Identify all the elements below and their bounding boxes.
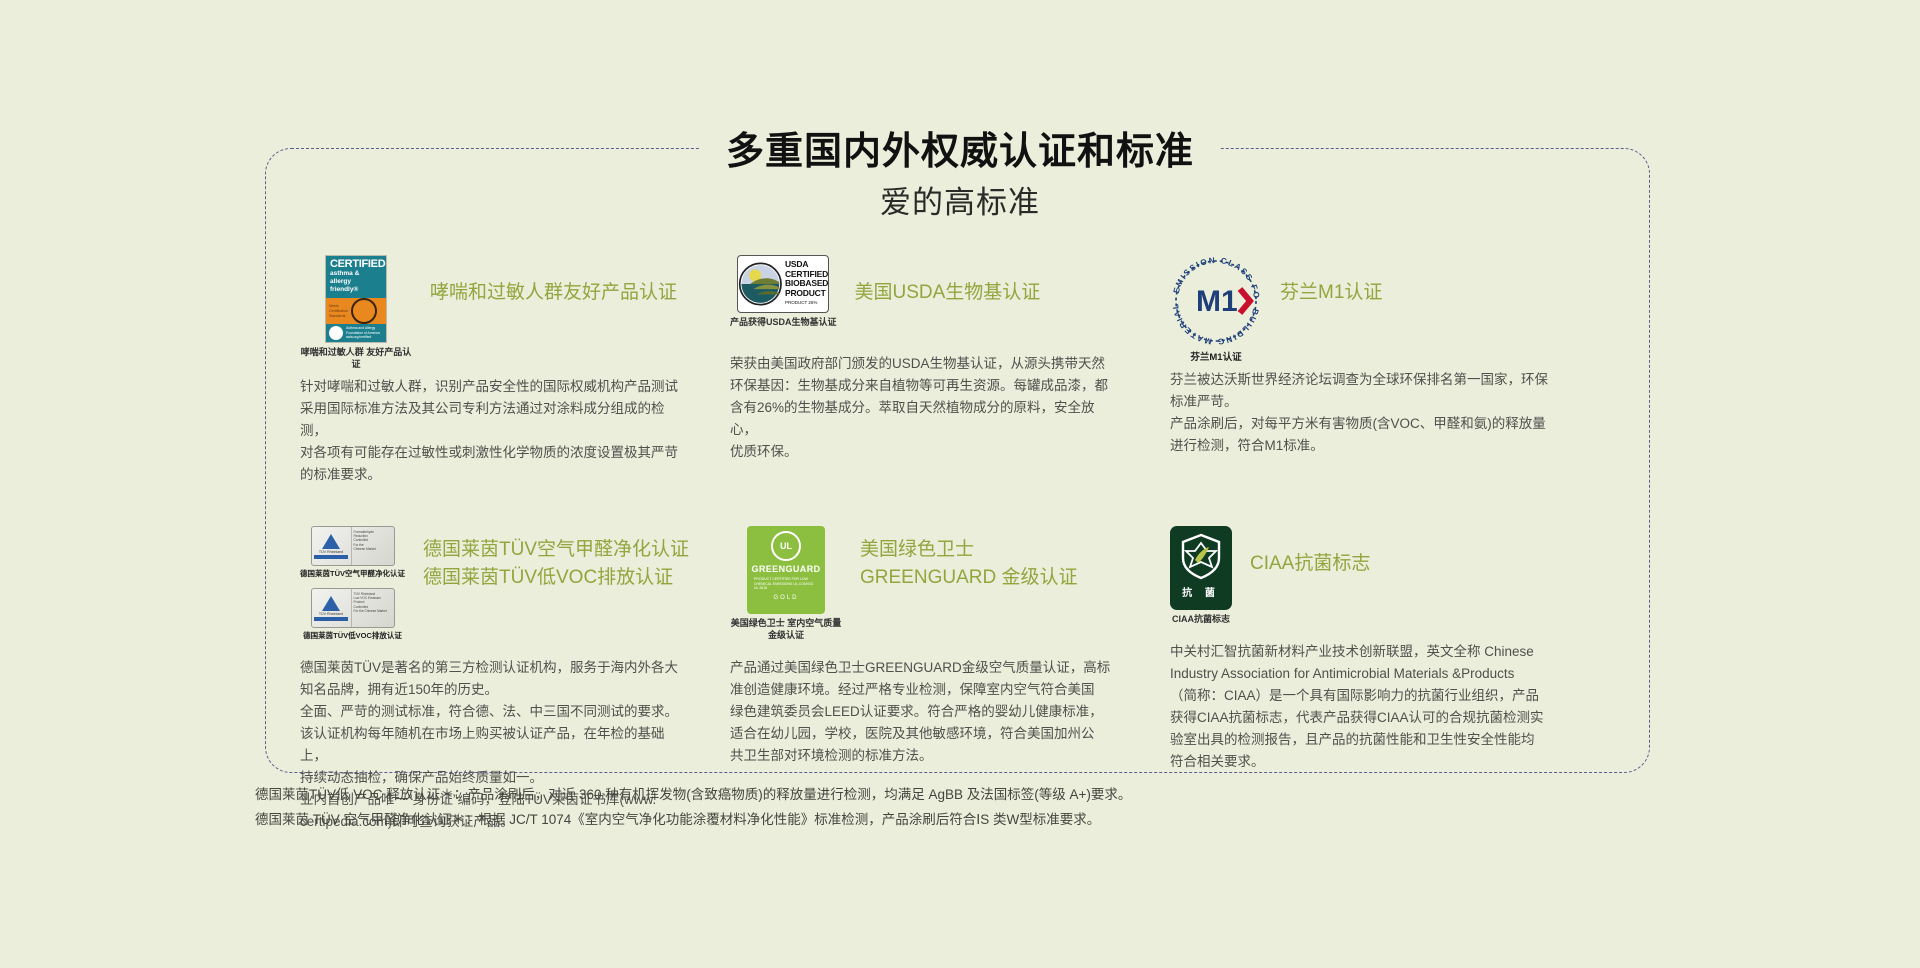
certification-title: 美国绿色卫士 GREENGUARD 金级认证	[842, 526, 1077, 592]
certification-body: 中关村汇智抗菌新材料产业技术创新联盟，英文全称 Chinese Industry…	[1170, 641, 1578, 773]
badge-caption: 美国绿色卫士 室内空气质量金级认证	[730, 617, 842, 641]
certification-title: 芬兰M1认证	[1262, 255, 1382, 307]
badge-wrap: 抗 菌 CIAA抗菌标志	[1170, 526, 1232, 625]
badge-wrap: USDA CERTIFIED BIOBASED PRODUCT PRODUCT …	[730, 255, 837, 328]
tuv-detail-text: FormaldehydeReductionControlledFor theCh…	[352, 527, 394, 565]
badge-caption: 产品获得USDA生物基认证	[730, 316, 837, 328]
aafa-seal-graphic	[351, 298, 377, 324]
certification-body: 针对哮喘和过敏人群，识别产品安全性的国际权威机构产品测试 采用国际标准方法及其公…	[300, 376, 708, 486]
badge-wrap: EMISSION CLASS FOR BUILDING MATERIAL · R…	[1170, 255, 1262, 363]
badge-wrap: UL GREENGUARD PRODUCT CERTIFIED FOR LOW …	[730, 526, 842, 641]
tuv-triangle-icon	[322, 596, 340, 611]
certification-header: UL GREENGUARD PRODUCT CERTIFIED FOR LOW …	[730, 526, 1148, 641]
badge-caption-voc: 德国莱茵TÜV低VOC排放认证	[303, 630, 402, 641]
aafa-badge-line-asthma: asthma & allergy	[330, 270, 382, 286]
greenguard-fineprint: PRODUCT CERTIFIED FOR LOW CHEMICAL EMISS…	[754, 577, 818, 591]
certification-header: EMISSION CLASS FOR BUILDING MATERIAL · R…	[1170, 255, 1578, 363]
certification-header: TÜV Rheinland FormaldehydeReductionContr…	[300, 526, 708, 641]
certification-header: 抗 菌 CIAA抗菌标志 CIAA抗菌标志	[1170, 526, 1578, 625]
ul-mark-icon: UL	[771, 531, 801, 561]
aafa-certified-badge-icon: CERTIFIED asthma & allergy friendly® Mee…	[325, 255, 387, 343]
tuv-mark: TÜV Rheinland	[312, 527, 352, 565]
tuv-brand-text: TÜV Rheinland	[319, 550, 343, 554]
certification-card-finland-m1: EMISSION CLASS FOR BUILDING MATERIAL · R…	[1170, 255, 1600, 486]
certification-title: 德国莱茵TÜV空气甲醛净化认证 德国莱茵TÜV低VOC排放认证	[405, 526, 689, 592]
greenguard-gold-badge-icon: UL GREENGUARD PRODUCT CERTIFIED FOR LOW …	[747, 526, 825, 614]
tuv-rheinland-badge-icon: TÜV Rheinland FormaldehydeReductionContr…	[311, 526, 395, 566]
aafa-badge-line-friendly: friendly®	[330, 286, 382, 294]
badge-caption-formaldehyde: 德国莱茵TÜV空气甲醛净化认证	[300, 568, 405, 579]
footnotes: 德国莱茵TÜV低 VOC 释放认证＊：产品涂刷后，对近 360 种有机挥发物(含…	[255, 782, 1131, 832]
badge-wrap: TÜV Rheinland FormaldehydeReductionContr…	[300, 526, 405, 641]
aafa-badge-line-standards: Meets Certification Standards	[329, 304, 349, 319]
aafa-foundation-mark	[329, 326, 343, 340]
tuv-mark: TÜV Rheinland	[312, 589, 352, 627]
aafa-badge-line-certified: CERTIFIED	[330, 259, 382, 270]
usda-line-5: PRODUCT 26%	[785, 298, 828, 308]
certification-card-usda-biobased: USDA CERTIFIED BIOBASED PRODUCT PRODUCT …	[730, 255, 1170, 486]
greenguard-wordmark: GREENGUARD	[751, 564, 820, 574]
certification-card-asthma-allergy-friendly: CERTIFIED asthma & allergy friendly® Mee…	[300, 255, 730, 486]
usda-line-4: PRODUCT	[785, 289, 828, 299]
badge-caption: 芬兰M1认证	[1190, 349, 1241, 363]
certification-title: 美国USDA生物基认证	[837, 255, 1041, 307]
ciaa-antibacterial-shield-badge-icon: 抗 菌	[1170, 526, 1232, 610]
badge-caption: CIAA抗菌标志	[1172, 613, 1230, 625]
m1-emission-class-badge-icon: EMISSION CLASS FOR BUILDING MATERIAL · R…	[1170, 255, 1262, 347]
certification-title: CIAA抗菌标志	[1232, 526, 1370, 578]
svg-text:M1: M1	[1196, 285, 1238, 318]
certification-title: 哮喘和过敏人群友好产品认证	[412, 255, 677, 307]
tuv-blue-bar	[314, 617, 348, 621]
usda-field-graphic	[738, 257, 783, 311]
tuv-brand-text: TÜV Rheinland	[319, 612, 343, 616]
greenguard-gold-level: GOLD	[773, 595, 798, 601]
usda-badge-text: USDA CERTIFIED BIOBASED PRODUCT PRODUCT …	[783, 260, 828, 308]
certification-body: 产品通过美国绿色卫士GREENGUARD金级空气质量认证，高标 准创造健康环境。…	[730, 657, 1148, 767]
tuv-blue-bar	[314, 555, 348, 559]
usda-certified-biobased-badge-icon: USDA CERTIFIED BIOBASED PRODUCT PRODUCT …	[737, 255, 829, 313]
certification-header: CERTIFIED asthma & allergy friendly® Mee…	[300, 255, 708, 370]
tuv-rheinland-voc-badge-icon: TÜV Rheinland TÜV RheinlandLow VOC Emiss…	[311, 588, 395, 628]
certification-body: 芬兰被达沃斯世界经济论坛调查为全球环保排名第一国家，环保 标准严苛。 产品涂刷后…	[1170, 369, 1578, 457]
aafa-badge-line-foundation: Asthma and Allergy Foundation of America…	[346, 326, 383, 340]
tuv-triangle-icon	[322, 534, 340, 549]
certification-body: 荣获由美国政府部门颁发的USDA生物基认证，从源头携带天然 环保基因：生物基成分…	[730, 353, 1148, 463]
certification-grid: CERTIFIED asthma & allergy friendly® Mee…	[300, 255, 1620, 833]
tuv-detail-text: TÜV RheinlandLow VOC EmissionProductCont…	[352, 589, 394, 627]
ciaa-badge-text: 抗 菌	[1182, 584, 1220, 599]
m1-circular-graphic: EMISSION CLASS FOR BUILDING MATERIAL · R…	[1170, 255, 1262, 347]
badge-wrap: CERTIFIED asthma & allergy friendly® Mee…	[300, 255, 412, 370]
badge-caption: 哮喘和过敏人群 友好产品认证	[300, 346, 412, 370]
certification-header: USDA CERTIFIED BIOBASED PRODUCT PRODUCT …	[730, 255, 1148, 347]
certification-card-ciaa-antibacterial: 抗 菌 CIAA抗菌标志 CIAA抗菌标志 中关村汇智抗菌新材料产业技术创新联盟…	[1170, 500, 1600, 833]
shield-icon	[1179, 532, 1223, 580]
